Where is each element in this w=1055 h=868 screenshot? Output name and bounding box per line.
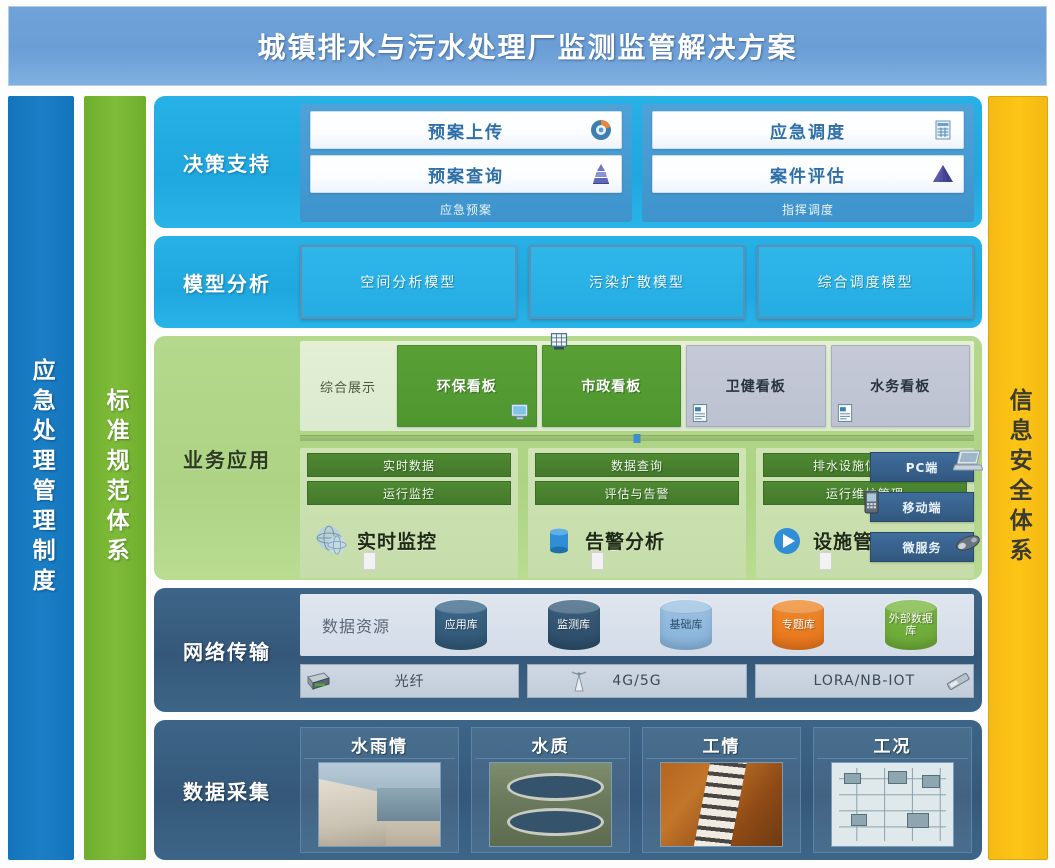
chip-label: 数据查询 <box>611 457 663 474</box>
badge-microservice[interactable]: 微服务 <box>870 532 974 562</box>
button-case-assessment-label: 案件评估 <box>770 162 846 187</box>
layer-network-transmission-label: 网络传输 <box>154 636 300 665</box>
data-collection-body: 水雨情 水质 <box>300 720 982 860</box>
data-card-title: 水雨情 <box>304 731 455 759</box>
pyramid-solid-icon <box>931 162 955 186</box>
grid-table-icon <box>931 118 955 142</box>
decision-group-caption: 指挥调度 <box>652 201 964 219</box>
model-card-label: 综合调度模型 <box>818 272 914 292</box>
feature-realtime-monitoring[interactable]: 实时监控 <box>307 509 511 572</box>
badge-pc-client[interactable]: PC端 <box>870 452 974 482</box>
photo-canal-embankment <box>318 762 441 847</box>
dashboard-municipal[interactable]: 市政看板 <box>542 345 682 427</box>
chip-realtime-data[interactable]: 实时数据 <box>307 453 511 477</box>
model-card-integrated-dispatch[interactable]: 综合调度模型 <box>757 245 974 319</box>
layer-decision-support-label: 决策支持 <box>154 148 300 177</box>
dashboard-divider <box>300 435 974 441</box>
monitor-icon <box>510 402 530 422</box>
solution-architecture-diagram: 城镇排水与污水处理厂监测监管解决方案 应急处理管理制度 标准规范体系 信息安全体… <box>0 0 1055 868</box>
device-icon <box>953 529 983 553</box>
data-card-list: 水雨情 水质 <box>300 727 972 853</box>
dashboard-label: 水务看板 <box>870 376 930 396</box>
badge-mobile-client[interactable]: 移动端 <box>870 492 974 522</box>
chip-data-query[interactable]: 数据查询 <box>535 453 739 477</box>
dashboard-label: 卫健看板 <box>726 376 786 396</box>
data-card-rainfall-water-regime[interactable]: 水雨情 <box>300 727 459 853</box>
button-plan-upload[interactable]: 预案上传 <box>310 111 622 149</box>
business-column-monitoring: 实时数据 运行监控 <box>300 448 518 578</box>
link-label: 4G/5G <box>612 673 661 689</box>
sensor-module-icon <box>945 670 971 692</box>
data-card-title: 水质 <box>475 731 626 759</box>
pillar-information-security: 信息安全体系 <box>988 96 1048 860</box>
data-card-engineering-condition[interactable]: 工情 <box>642 727 801 853</box>
client-badge-list: PC端 移动端 <box>870 452 974 562</box>
database-thematic[interactable]: 专题库 <box>743 600 853 650</box>
pillar-emergency-management: 应急处理管理制度 <box>8 96 74 860</box>
globe-icon <box>311 521 351 561</box>
decision-support-body: 预案上传 预案查询 <box>300 96 982 228</box>
business-application-body: 综合展示 环保看板 市政看板 <box>300 336 982 580</box>
chip-label: 评估与告警 <box>604 485 669 502</box>
badge-label: PC端 <box>906 459 939 476</box>
decision-group-caption: 应急预案 <box>310 201 622 219</box>
database-icon <box>539 521 579 561</box>
chip-label: 运行监控 <box>383 485 435 502</box>
layer-model-analysis: 模型分析 空间分析模型 污染扩散模型 综合调度模型 <box>154 236 982 328</box>
database-cylinder: 应用库 <box>435 600 487 650</box>
data-card-title: 工况 <box>817 731 968 759</box>
page-title: 城镇排水与污水处理厂监测监管解决方案 <box>257 26 797 66</box>
photo-process-schematic <box>831 762 954 847</box>
pillar-security-label: 信息安全体系 <box>1006 388 1030 568</box>
layer-business-application-label: 业务应用 <box>154 336 300 580</box>
document-icon <box>591 552 604 570</box>
data-resource-row: 数据资源 应用库 监测库 基础库 专题库 外部数据库 <box>300 594 974 656</box>
pillar-standard-label: 标准规范体系 <box>103 388 127 568</box>
dashboard-label: 环保看板 <box>437 376 497 396</box>
model-card-label: 空间分析模型 <box>360 272 456 292</box>
laptop-icon <box>953 449 983 473</box>
button-emergency-dispatch[interactable]: 应急调度 <box>652 111 964 149</box>
layer-business-application: 业务应用 综合展示 环保看板 <box>154 336 982 580</box>
dashboard-strip: 综合展示 环保看板 市政看板 <box>300 341 974 431</box>
database-cylinder: 外部数据库 <box>885 600 937 650</box>
model-card-list: 空间分析模型 污染扩散模型 综合调度模型 <box>300 245 974 319</box>
layer-stack: 决策支持 预案上传 <box>154 96 982 860</box>
model-analysis-body: 空间分析模型 污染扩散模型 综合调度模型 <box>300 236 982 328</box>
antenna-tower-icon <box>566 670 592 692</box>
dashboard-health[interactable]: 卫健看板 <box>686 345 826 427</box>
decision-group: 预案上传 预案查询 <box>300 104 632 222</box>
layer-data-collection-label: 数据采集 <box>154 776 300 805</box>
layer-decision-support: 决策支持 预案上传 <box>154 96 982 228</box>
button-plan-query[interactable]: 预案查询 <box>310 155 622 193</box>
link-label: LORA/NB-IOT <box>814 673 916 689</box>
window-icon <box>549 332 569 352</box>
model-card-spatial-analysis[interactable]: 空间分析模型 <box>300 245 517 319</box>
badge-label: 移动端 <box>902 499 941 516</box>
pillar-standards-system: 标准规范体系 <box>84 96 146 860</box>
network-transmission-body: 数据资源 应用库 监测库 基础库 专题库 外部数据库 <box>300 588 982 712</box>
dashboard-group-label: 综合展示 <box>304 345 392 427</box>
chip-operation-monitoring[interactable]: 运行监控 <box>307 481 511 505</box>
document-icon <box>819 552 832 570</box>
dashboard-label: 市政看板 <box>581 376 641 396</box>
pillar-emergency-label: 应急处理管理制度 <box>29 358 53 598</box>
layer-network-transmission: 网络传输 数据资源 应用库 监测库 基础库 专题库 <box>154 588 982 712</box>
decision-group: 应急调度 <box>642 104 974 222</box>
play-circle-icon <box>767 521 807 561</box>
database-cylinder: 专题库 <box>772 600 824 650</box>
database-cylinder: 监测库 <box>548 600 600 650</box>
database-cylinder: 基础库 <box>660 600 712 650</box>
link-label: 光纤 <box>395 671 425 691</box>
document-icon <box>363 552 376 570</box>
feature-label: 实时监控 <box>357 527 437 554</box>
database-application[interactable]: 应用库 <box>406 600 516 650</box>
data-card-water-quality[interactable]: 水质 <box>471 727 630 853</box>
link-4g-5g[interactable]: 4G/5G <box>527 664 746 698</box>
photo-buried-pipe <box>660 762 783 847</box>
layer-model-analysis-label: 模型分析 <box>154 268 300 297</box>
database-external[interactable]: 外部数据库 <box>856 600 966 650</box>
mobile-phone-icon <box>857 490 887 514</box>
data-card-operating-status[interactable]: 工况 <box>813 727 972 853</box>
layer-data-collection: 数据采集 水雨情 水质 <box>154 720 982 860</box>
network-link-list: 光纤 4G/5G LORA/NB-IOT <box>300 664 974 698</box>
decision-group-list: 预案上传 预案查询 <box>300 104 974 222</box>
switch-device-icon <box>305 670 331 692</box>
link-fiber-optic[interactable]: 光纤 <box>300 664 519 698</box>
database-monitoring[interactable]: 监测库 <box>518 600 628 650</box>
business-column-alarm: 数据查询 评估与告警 <box>528 448 746 578</box>
report-icon <box>835 403 855 423</box>
button-emergency-dispatch-label: 应急调度 <box>770 118 846 143</box>
chip-assessment-alarm[interactable]: 评估与告警 <box>535 481 739 505</box>
model-card-label: 污染扩散模型 <box>589 272 685 292</box>
pyramid-chart-icon <box>589 162 613 186</box>
lifebuoy-icon <box>589 118 613 142</box>
title-banner: 城镇排水与污水处理厂监测监管解决方案 <box>8 6 1047 86</box>
data-resource-label: 数据资源 <box>308 613 404 637</box>
dashboard-water-affairs[interactable]: 水务看板 <box>831 345 971 427</box>
chip-label: 实时数据 <box>383 457 435 474</box>
model-card-pollution-diffusion[interactable]: 污染扩散模型 <box>529 245 746 319</box>
badge-label: 微服务 <box>902 539 941 556</box>
button-case-assessment[interactable]: 案件评估 <box>652 155 964 193</box>
report-icon <box>690 403 710 423</box>
data-card-title: 工情 <box>646 731 797 759</box>
database-base[interactable]: 基础库 <box>631 600 741 650</box>
button-plan-upload-label: 预案上传 <box>428 118 504 143</box>
feature-alarm-analysis[interactable]: 告警分析 <box>535 509 739 572</box>
button-plan-query-label: 预案查询 <box>428 162 504 187</box>
dashboard-environment[interactable]: 环保看板 <box>397 345 537 427</box>
photo-aeration-tanks <box>489 762 612 847</box>
feature-label: 告警分析 <box>585 527 665 554</box>
link-lora-nbiot[interactable]: LORA/NB-IOT <box>755 664 974 698</box>
